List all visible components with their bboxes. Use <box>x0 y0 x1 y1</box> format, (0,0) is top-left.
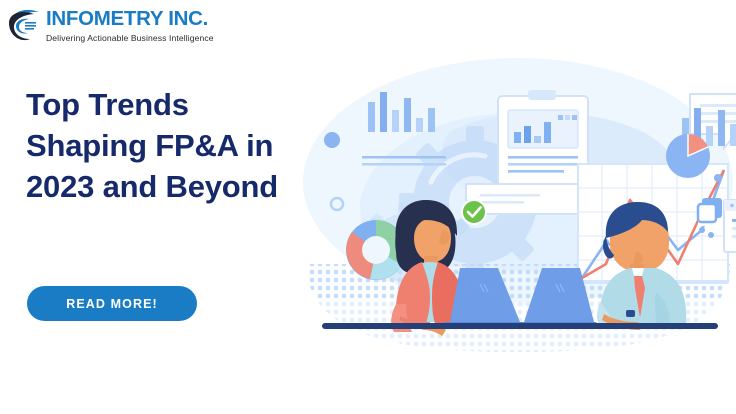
pie-chart-right <box>666 134 710 178</box>
decor-dot-right-lower <box>708 232 714 238</box>
company-logo[interactable]: INFOMETRY INC. Delivering Actionable Bus… <box>8 6 214 44</box>
logo-wordmark: INFOMETRY INC. <box>46 9 214 30</box>
layers-square-icon <box>698 198 722 226</box>
speech-bubble-right <box>724 200 736 252</box>
swoosh-wave-icon <box>8 6 42 44</box>
read-more-button[interactable]: READ MORE! <box>27 286 197 321</box>
fpa-analytics-teamwork-illustration <box>300 52 736 352</box>
marketing-banner: INFOMETRY INC. Delivering Actionable Bus… <box>0 0 736 414</box>
decor-dot <box>324 132 340 148</box>
logo-tagline: Delivering Actionable Business Intellige… <box>46 33 214 43</box>
desk-line <box>322 323 718 329</box>
decor-dot-right <box>714 174 722 182</box>
logo-text-block: INFOMETRY INC. Delivering Actionable Bus… <box>46 6 214 43</box>
check-badge-icon <box>461 199 487 225</box>
